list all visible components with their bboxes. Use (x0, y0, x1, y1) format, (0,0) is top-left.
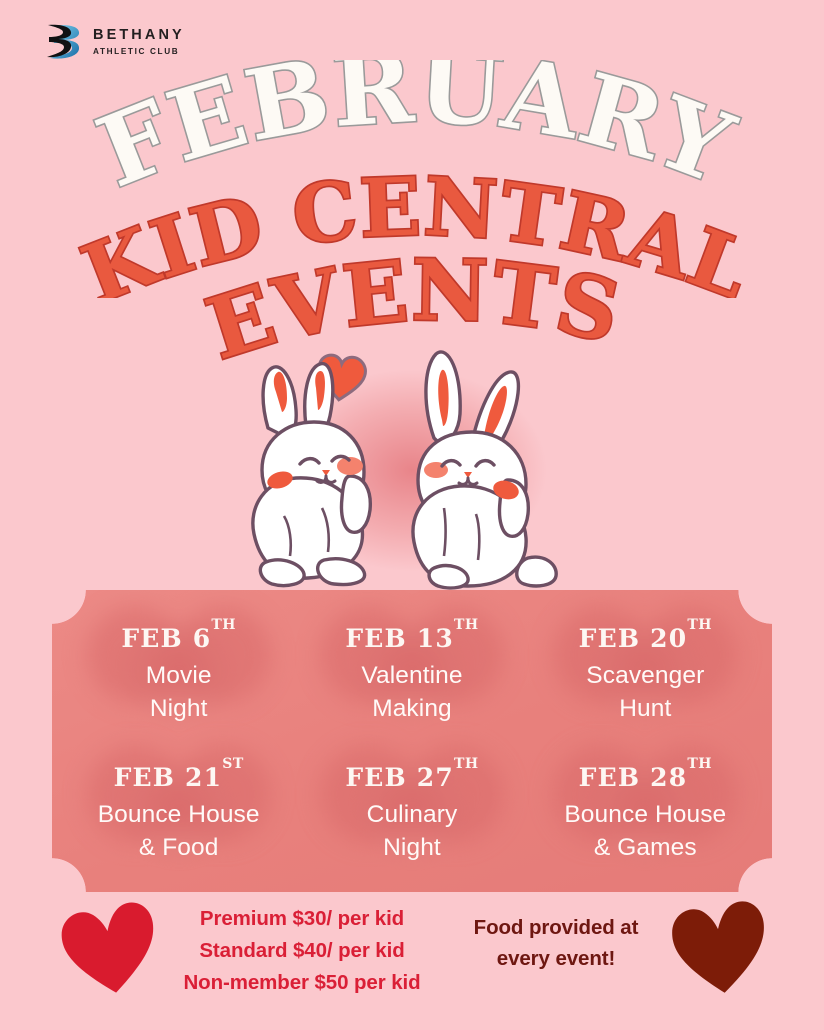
event-date: FEB 27TH (295, 765, 528, 790)
headline-block: FEBRUARY KID CENTRAL EVENTS (0, 60, 824, 320)
event-date: FEB 20TH (529, 626, 762, 651)
event-card[interactable]: FEB 21ST Bounce House& Food (62, 761, 295, 864)
event-name: Bounce House& Games (529, 799, 762, 864)
brand-name: BETHANY (93, 28, 185, 43)
bethany-b-swoosh-logo-icon (46, 22, 84, 62)
event-name: MovieNight (62, 660, 295, 725)
food-note-line1: Food provided at (448, 913, 664, 944)
food-note-text: Food provided at every event! (448, 913, 664, 975)
event-name: ScavengerHunt (529, 660, 762, 725)
event-card[interactable]: FEB 13TH ValentineMaking (295, 622, 528, 725)
event-date: FEB 28TH (529, 765, 762, 790)
event-name: Bounce House& Food (62, 799, 295, 864)
event-date: FEB 13TH (295, 626, 528, 651)
food-note-line2: every event! (448, 944, 664, 975)
event-card[interactable]: FEB 20TH ScavengerHunt (529, 622, 762, 725)
footer-block: Premium $30/ per kid Standard $40/ per k… (0, 895, 824, 1015)
event-date-text: FEB 6 (121, 624, 211, 653)
event-date: FEB 21ST (62, 765, 295, 790)
brand-wordmark: BETHANY ATHLETIC CLUB (93, 28, 185, 56)
event-date-ordinal: TH (687, 617, 712, 633)
event-name: ValentineMaking (295, 660, 528, 725)
event-date-text: FEB 21 (114, 763, 223, 792)
event-date-ordinal: TH (211, 617, 236, 633)
event-date-text: FEB 13 (345, 624, 454, 653)
bunny-illustration (232, 330, 592, 600)
heart-icon (668, 899, 772, 1002)
event-date-ordinal: TH (454, 756, 479, 772)
pricing-text: Premium $30/ per kid Standard $40/ per k… (142, 903, 462, 998)
event-date-text: FEB 20 (579, 624, 688, 653)
event-date-ordinal: TH (687, 756, 712, 772)
event-date-text: FEB 28 (579, 763, 688, 792)
pricing-line-premium: Premium $30/ per kid (142, 903, 462, 935)
event-card[interactable]: FEB 6TH MovieNight (62, 622, 295, 725)
event-card[interactable]: FEB 27TH CulinaryNight (295, 761, 528, 864)
event-date-text: FEB 27 (345, 763, 454, 792)
event-card[interactable]: FEB 28TH Bounce House& Games (529, 761, 762, 864)
brand-logo: BETHANY ATHLETIC CLUB (46, 22, 185, 62)
event-name: CulinaryNight (295, 799, 528, 864)
pricing-line-nonmember: Non-member $50 per kid (142, 967, 462, 999)
pricing-line-standard: Standard $40/ per kid (142, 935, 462, 967)
events-ticket-panel: FEB 6TH MovieNight FEB 13TH ValentineMak… (52, 590, 772, 892)
event-date-ordinal: TH (454, 617, 479, 633)
event-date-ordinal: ST (222, 756, 244, 772)
bunny-icon (413, 352, 556, 588)
brand-subtitle: ATHLETIC CLUB (93, 48, 185, 56)
event-date: FEB 6TH (62, 626, 295, 651)
bunny-icon (253, 364, 370, 586)
poster-canvas: BETHANY ATHLETIC CLUB FEBRUARY KID CENTR… (0, 0, 824, 1030)
